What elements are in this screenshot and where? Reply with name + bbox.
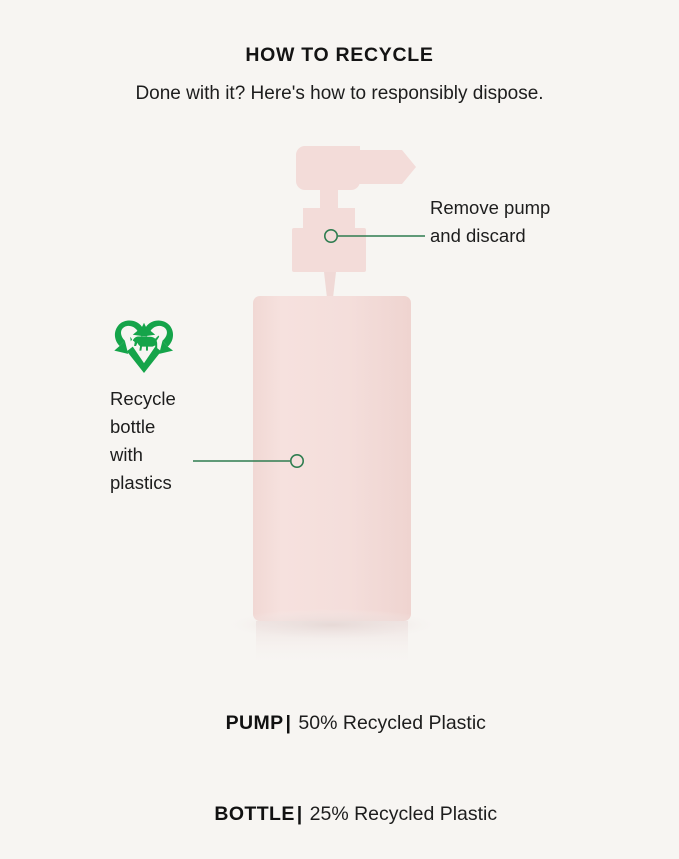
pump-collar (292, 208, 366, 272)
spec-value-pump: 50% Recycled Plastic (298, 712, 486, 734)
pump-head (296, 146, 416, 218)
spec-row-bottle: BOTTLE| 25% Recycled Plastic (0, 769, 679, 859)
recycle-heart-dog-icon (111, 313, 177, 379)
bottle-callout-marker (291, 455, 303, 467)
bottle-body (253, 296, 411, 621)
product-illustration (0, 0, 679, 776)
page-subtitle: Done with it? Here's how to responsibly … (0, 67, 679, 106)
product-illustration-svg (0, 0, 679, 776)
pump-callout-leader (325, 230, 425, 242)
spec-value-bottle: 25% Recycled Plastic (310, 803, 498, 825)
spec-row-pump: PUMP| 50% Recycled Plastic (0, 678, 679, 769)
header: HOW TO RECYCLE Done with it? Here's how … (0, 44, 679, 106)
recycle-heart-dog-icon-svg (111, 313, 177, 379)
callout-remove-pump: Remove pump and discard (430, 194, 650, 250)
spec-label-bottle: BOTTLE (214, 803, 294, 825)
spec-separator-pump: | (284, 712, 293, 734)
page-title: HOW TO RECYCLE (0, 44, 679, 67)
pump-stem (324, 272, 336, 298)
material-specs: PUMP| 50% Recycled Plastic BOTTLE| 25% R… (0, 678, 679, 859)
callout-recycle-bottle: Recycle bottle with plastics (110, 385, 215, 497)
bottle-reflection (224, 609, 440, 667)
spec-label-pump: PUMP (226, 712, 284, 734)
recycle-infographic: HOW TO RECYCLE Done with it? Here's how … (0, 0, 679, 776)
spec-separator-bottle: | (295, 803, 304, 825)
pump-callout-marker (325, 230, 337, 242)
